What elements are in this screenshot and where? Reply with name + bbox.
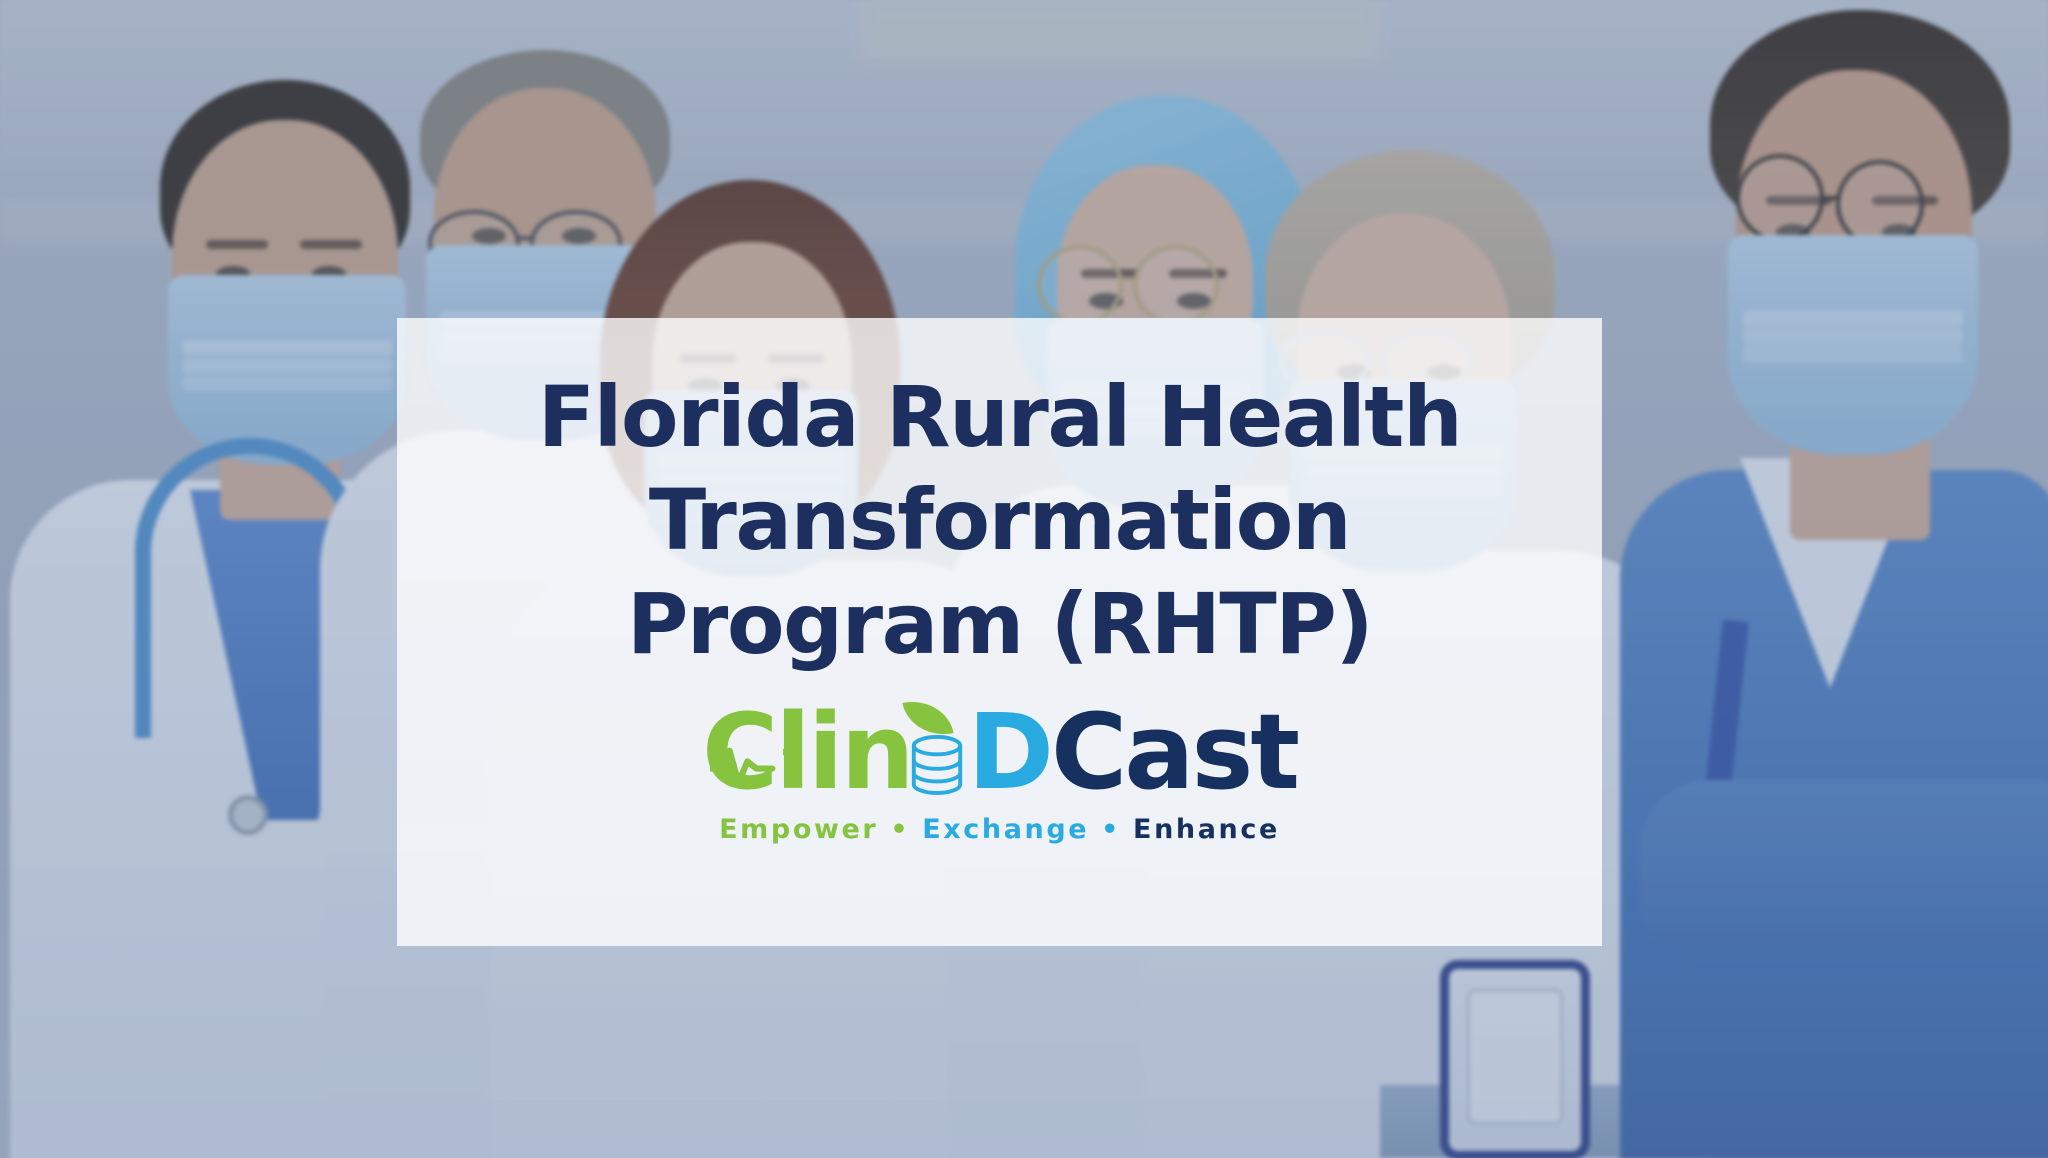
tagline-word-enhance: Enhance — [1133, 814, 1280, 845]
title-line-3: Program (RHTP) — [443, 573, 1556, 676]
title-line-2: Transformation — [443, 469, 1556, 572]
logo-tagline: Empower • Exchange • Enhance — [719, 814, 1280, 845]
title-card: Florida Rural Health Transformation Prog… — [397, 318, 1602, 946]
tagline-separator-2: • — [1101, 814, 1121, 845]
logo-cast-text: Cast — [1051, 700, 1297, 804]
tagline-word-exchange: Exchange — [922, 814, 1089, 845]
page-title: Florida Rural Health Transformation Prog… — [443, 366, 1556, 676]
logo-letter-c: C — [702, 700, 775, 804]
logo-wordmark: C lin — [702, 700, 1297, 804]
tagline-word-empower: Empower — [719, 814, 878, 845]
clindcast-logo: C lin — [702, 700, 1297, 845]
tagline-separator-1: • — [890, 814, 910, 845]
banner-canvas: Florida Rural Health Transformation Prog… — [0, 0, 2048, 1158]
logo-lin-text: lin — [775, 691, 911, 813]
database-icon — [908, 734, 966, 796]
logo-letter-d: D — [912, 700, 1051, 804]
title-line-1: Florida Rural Health — [443, 366, 1556, 469]
logo-d-text: D — [968, 691, 1051, 813]
logo-letters-lin: lin — [775, 700, 911, 804]
